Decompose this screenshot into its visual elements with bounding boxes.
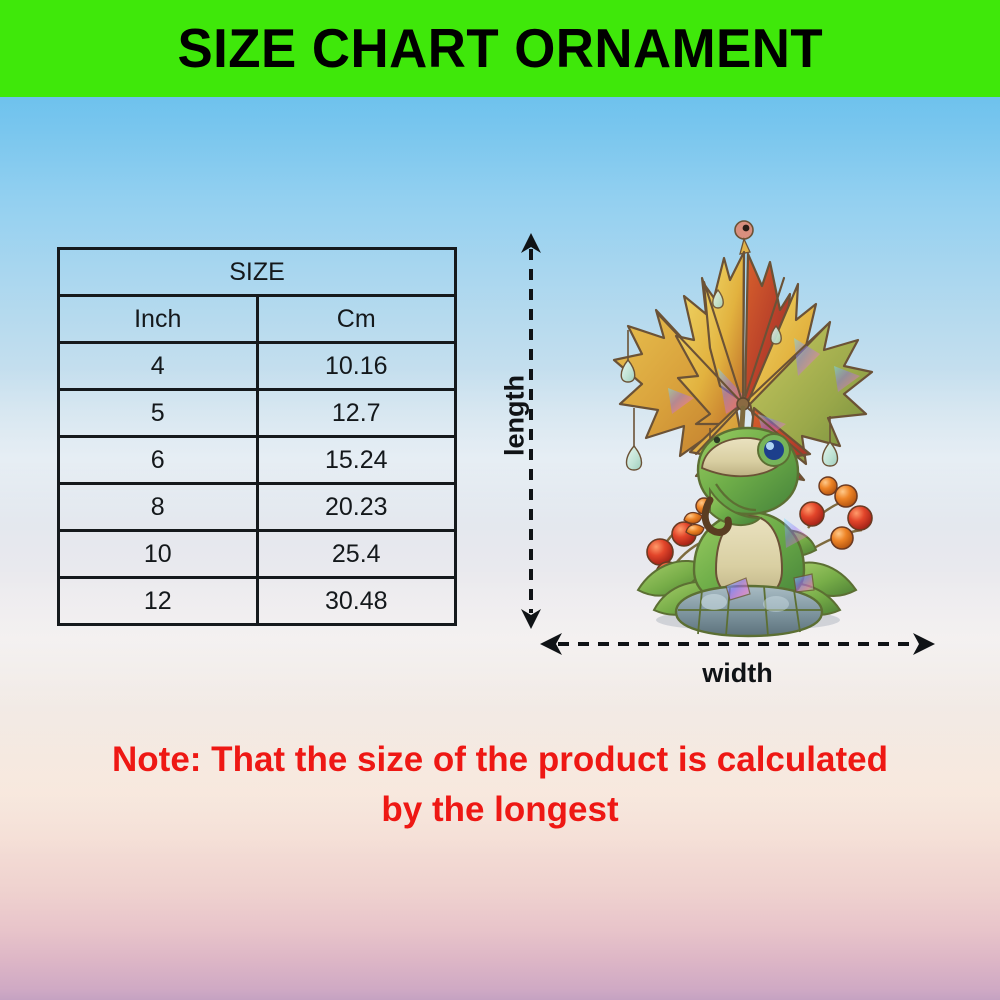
note-line-2: by the longest: [50, 785, 950, 835]
column-header-cm: Cm: [257, 296, 456, 343]
cell-inch: 5: [59, 390, 258, 437]
cell-cm: 30.48: [257, 578, 456, 625]
column-header-inch: Inch: [59, 296, 258, 343]
table-row: 8 20.23: [59, 484, 456, 531]
berry-sprig-right: [800, 477, 872, 549]
width-label: width: [540, 658, 935, 689]
cell-cm: 15.24: [257, 437, 456, 484]
cell-inch: 10: [59, 531, 258, 578]
cell-cm: 10.16: [257, 343, 456, 390]
page-title: SIZE CHART ORNAMENT: [177, 21, 823, 76]
cell-inch: 8: [59, 484, 258, 531]
note-line-1: Note: That the size of the product is ca…: [50, 735, 950, 785]
size-table: SIZE Inch Cm 4 10.16 5 12.7 6 15.24: [57, 247, 457, 626]
cell-cm: 25.4: [257, 531, 456, 578]
note-text: Note: That the size of the product is ca…: [50, 735, 950, 835]
table-row: 12 30.48: [59, 578, 456, 625]
table-row: 6 15.24: [59, 437, 456, 484]
table-row: 4 10.16: [59, 343, 456, 390]
product-ornament-image: [598, 218, 888, 638]
cell-cm: 12.7: [257, 390, 456, 437]
size-chart-page: SIZE CHART ORNAMENT SIZE Inch Cm 4 10.16…: [0, 0, 1000, 1000]
hanging-bead-icon: [735, 221, 753, 254]
table-row-header: Inch Cm: [59, 296, 456, 343]
size-table-container: SIZE Inch Cm 4 10.16 5 12.7 6 15.24: [57, 247, 457, 626]
table-row: 5 12.7: [59, 390, 456, 437]
cell-inch: 4: [59, 343, 258, 390]
header-banner: SIZE CHART ORNAMENT: [0, 0, 1000, 97]
size-table-body: SIZE Inch Cm 4 10.16 5 12.7 6 15.24: [59, 249, 456, 625]
length-label: length: [500, 371, 531, 461]
cell-inch: 12: [59, 578, 258, 625]
cell-inch: 6: [59, 437, 258, 484]
cell-cm: 20.23: [257, 484, 456, 531]
size-table-title-cell: SIZE: [59, 249, 456, 296]
table-row: 10 25.4: [59, 531, 456, 578]
table-row-title: SIZE: [59, 249, 456, 296]
